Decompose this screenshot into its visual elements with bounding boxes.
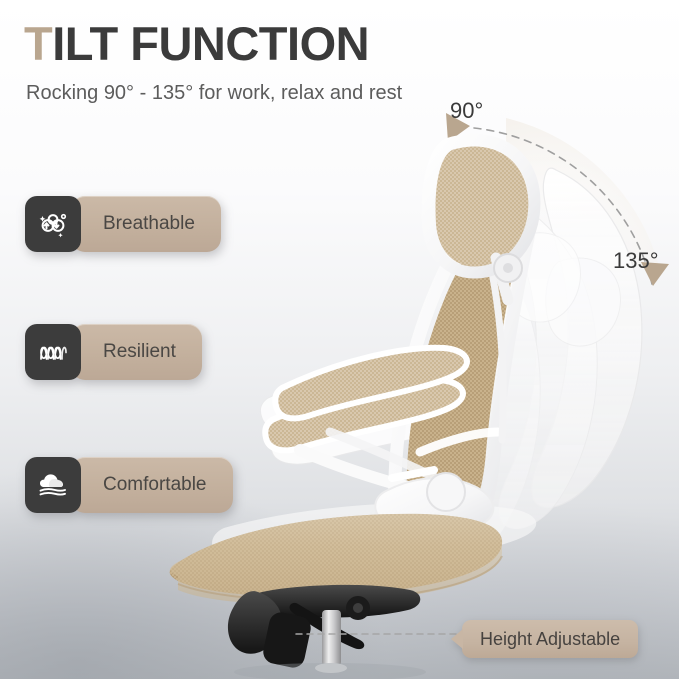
airflow-icon (25, 196, 81, 252)
feature-label-breathable: Breathable (71, 196, 221, 252)
page-title-rest: ILT FUNCTION (52, 17, 369, 70)
angle-label-min: 90° (450, 98, 483, 124)
height-adjustable-callout: Height Adjustable (462, 620, 638, 658)
cushion-cloud-icon (25, 457, 81, 513)
page-title: TILT FUNCTION (24, 20, 369, 67)
spring-coils-icon (25, 324, 81, 380)
feature-label-comfortable: Comfortable (71, 457, 233, 513)
page-subtitle: Rocking 90° - 135° for work, relax and r… (26, 82, 402, 105)
tilt-pivot-knob (427, 473, 465, 511)
chair-base (228, 585, 426, 679)
page-title-lead-letter: T (24, 17, 52, 70)
angle-label-max: 135° (613, 248, 659, 274)
feature-badge-breathable: Breathable (25, 196, 221, 252)
feature-badge-resilient: Resilient (25, 324, 202, 380)
feature-badge-comfortable: Comfortable (25, 457, 233, 513)
feature-label-resilient: Resilient (71, 324, 202, 380)
product-feature-image: TILT FUNCTION Rocking 90° - 135° for wor… (0, 0, 679, 679)
gas-lift-cylinder (322, 610, 341, 666)
